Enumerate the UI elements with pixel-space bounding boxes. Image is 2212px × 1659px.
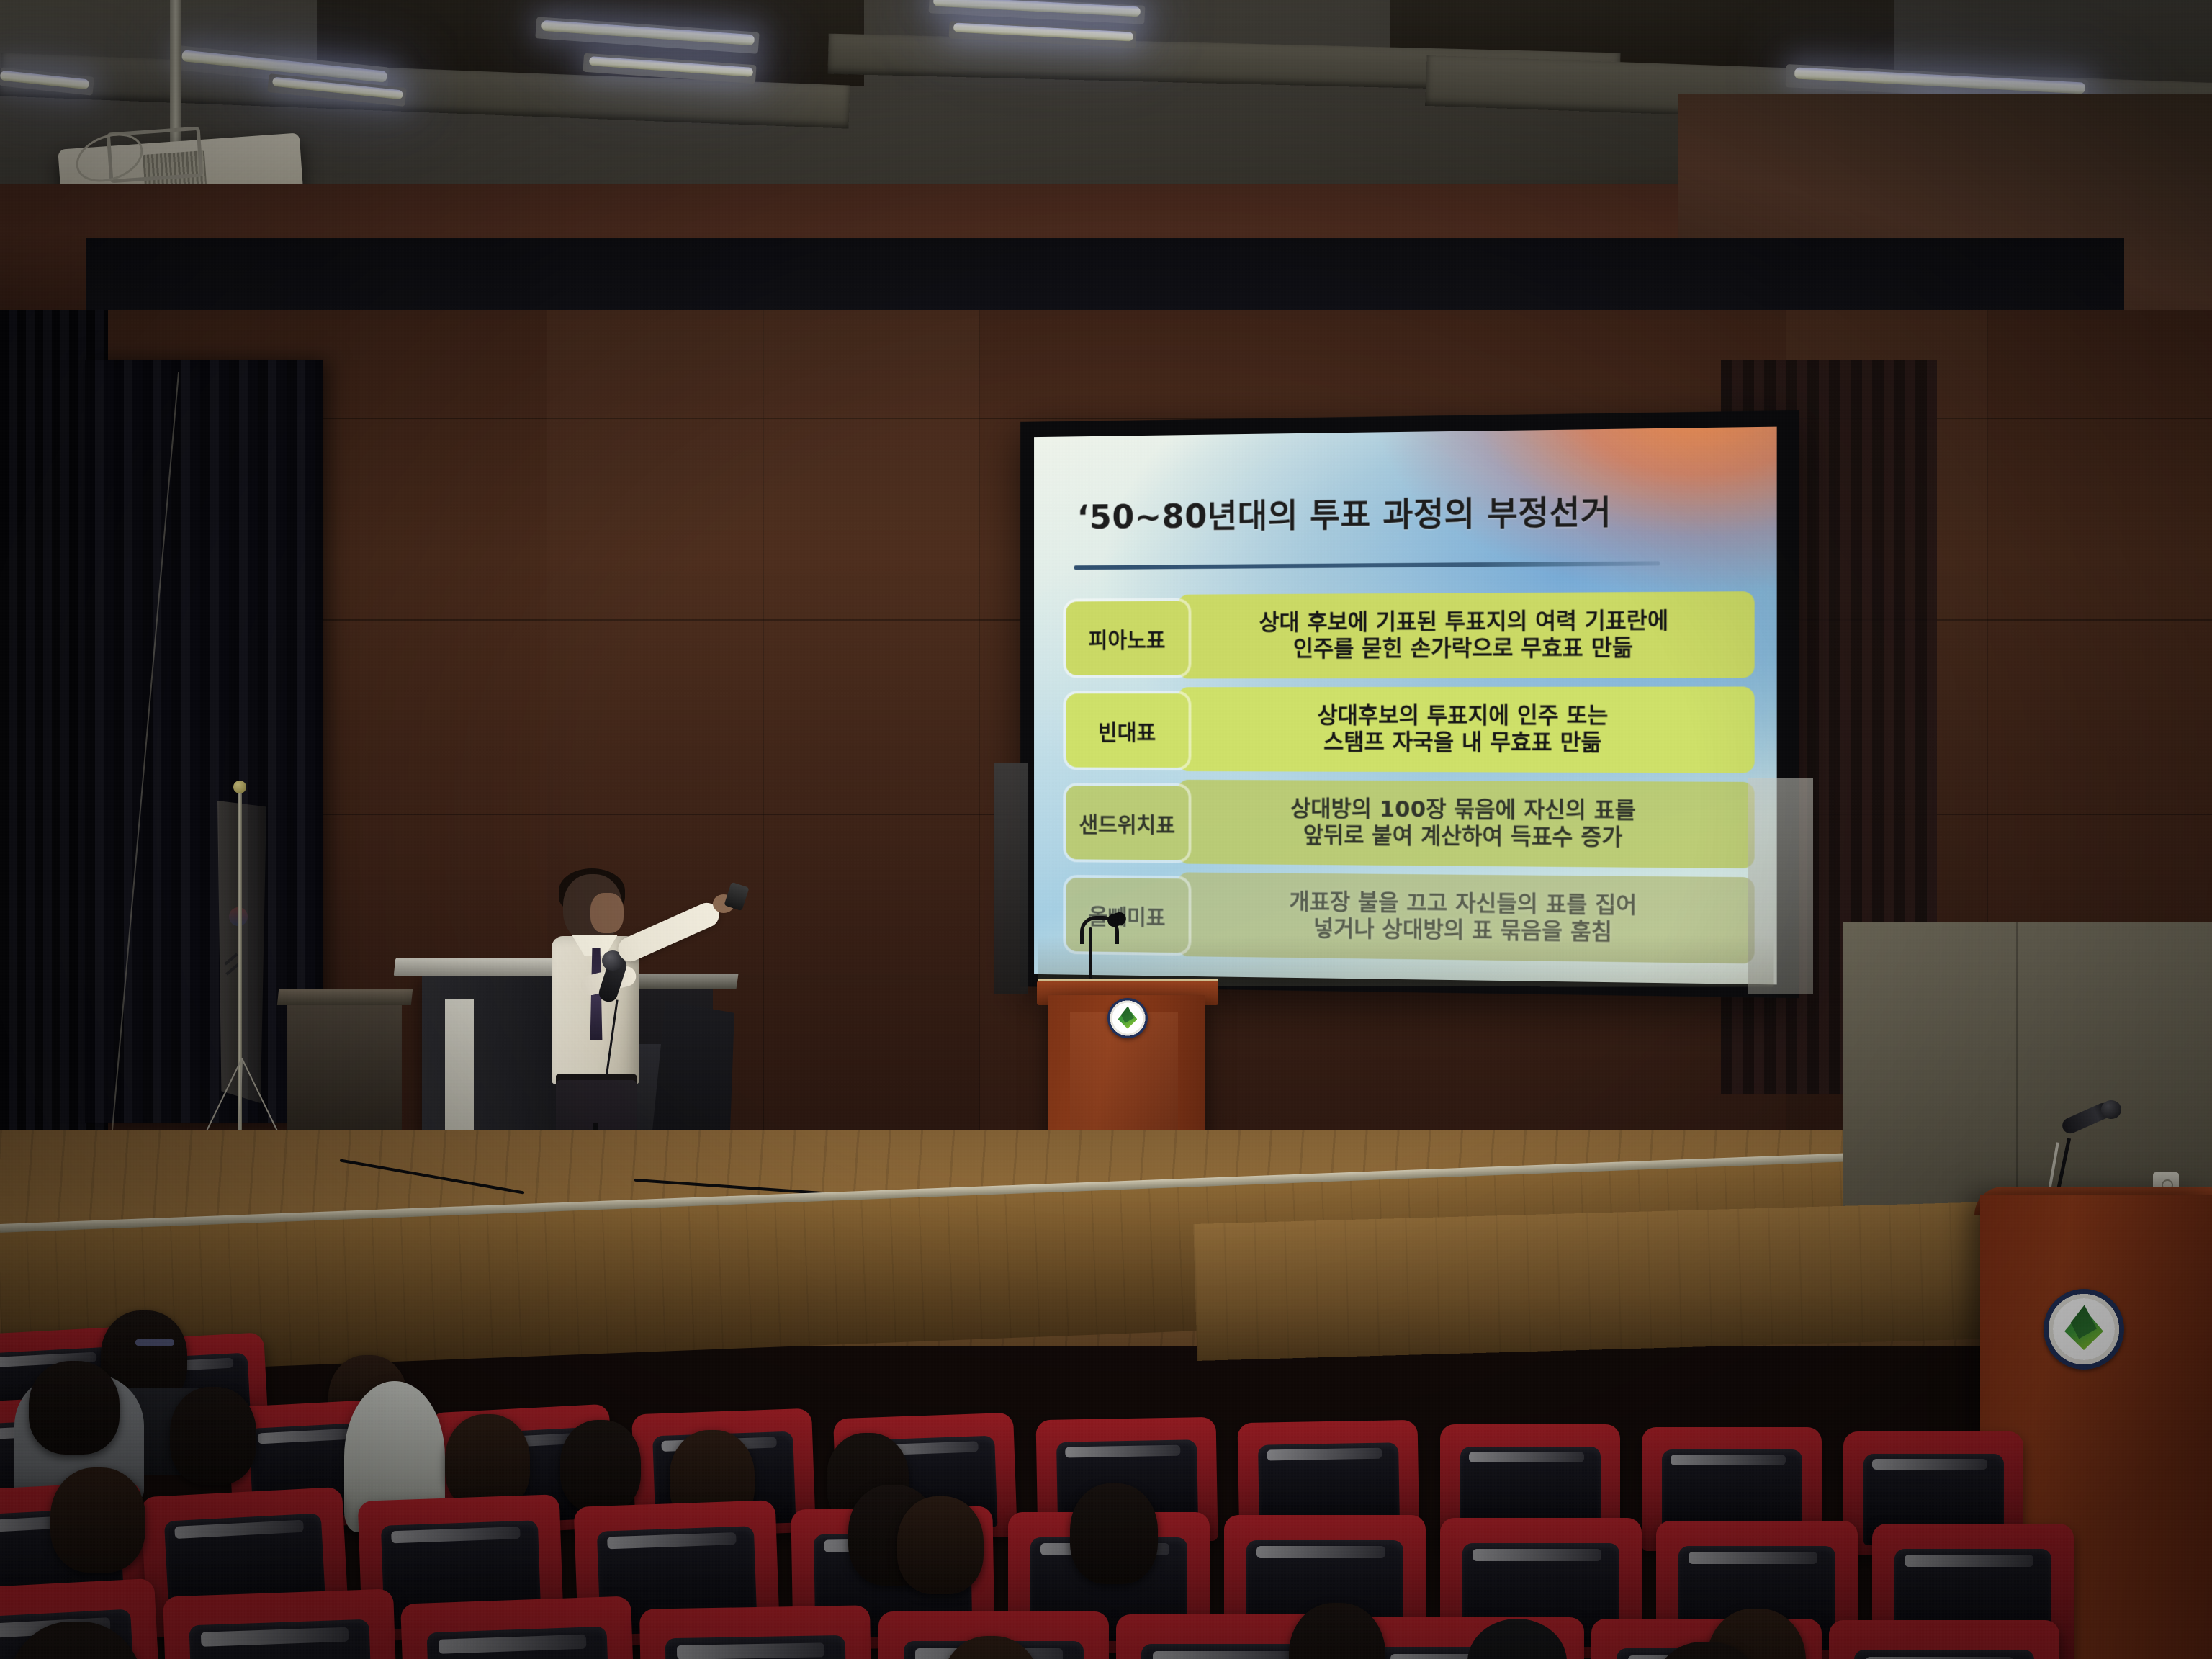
flag-finial: [233, 781, 246, 793]
presenter-right-arm: [614, 899, 723, 965]
seat: [639, 1605, 873, 1659]
slide-row-label: 빈대표: [1066, 693, 1188, 768]
audience-head: [170, 1387, 256, 1485]
auditorium-scene: ‘50~80년대의 투표 과정의 부정선거 상대 후보에 기표된 투표지의 여력…: [0, 0, 2212, 1659]
slide-title: ‘50~80년대의 투표 과정의 부정선거: [1077, 485, 1707, 539]
slide-row-label: 피아노표: [1066, 601, 1188, 675]
audience-seating: [0, 1195, 2212, 1659]
slide-row: 상대 후보에 기표된 투표지의 여력 기표란에 인주를 묻힌 손가락으로 무효표…: [1066, 591, 1747, 681]
presenter-face: [590, 893, 624, 933]
slide-row: 개표장 불을 끄고 자신들의 표를 집어 넣거나 상대방의 표 묶음을 훔침 올…: [1066, 871, 1747, 966]
slide-row-body: 상대후보의 투표지에 인주 또는 스탬프 자국을 내 무효표 만듦: [1177, 687, 1755, 773]
stage-side-table-top: [277, 989, 413, 1005]
seat: [400, 1596, 637, 1659]
slide-row-body: 개표장 불을 끄고 자신들의 표를 집어 넣거나 상대방의 표 묶음을 훔침: [1177, 872, 1755, 963]
projection-screen: ‘50~80년대의 투표 과정의 부정선거 상대 후보에 기표된 투표지의 여력…: [1034, 427, 1777, 985]
slide-rows: 상대 후보에 기표된 투표지의 여력 기표란에 인주를 묻힌 손가락으로 무효표…: [1066, 591, 1747, 972]
seat: [1829, 1620, 2059, 1659]
screen-left-panel: [994, 763, 1028, 994]
audience-head: [560, 1420, 641, 1512]
slide-row-text: 상대후보의 투표지에 인주 또는 스탬프 자국을 내 무효표 만듦: [1317, 703, 1608, 756]
slide-row-text: 개표장 불을 끄고 자신들의 표를 집어 넣거나 상대방의 표 묶음을 훔침: [1290, 889, 1637, 946]
slide-row-body: 상대 후보에 기표된 투표지의 여력 기표란에 인주를 묻힌 손가락으로 무효표…: [1177, 591, 1755, 678]
audience-head: [1070, 1483, 1158, 1584]
slide-row-label: 샌드위치표: [1066, 786, 1188, 860]
screen-right-panel: [1748, 778, 1813, 994]
audience-head: [897, 1496, 984, 1594]
slide-row-text: 상대방의 100장 묶음에 자신의 표를 앞뒤로 붙여 계산하여 득표수 증가: [1290, 796, 1636, 851]
school-crest-icon: [1107, 998, 1148, 1038]
seat: [163, 1588, 399, 1659]
slide-row-text: 상대 후보에 기표된 투표지의 여력 기표란에 인주를 묻힌 손가락으로 무효표…: [1259, 608, 1668, 662]
audience-head: [50, 1467, 145, 1573]
stage-side-table: [287, 1001, 402, 1130]
audience-head: [29, 1361, 120, 1455]
slide-title-divider: [1074, 561, 1660, 570]
slide-row: 상대방의 100장 묶음에 자신의 표를 앞뒤로 붙여 계산하여 득표수 증가 …: [1066, 779, 1747, 871]
microphone-head: [2101, 1100, 2121, 1119]
slide-row-body: 상대방의 100장 묶음에 자신의 표를 앞뒤로 붙여 계산하여 득표수 증가: [1177, 780, 1755, 868]
glasses-icon: [135, 1339, 174, 1346]
slide-row: 상대후보의 투표지에 인주 또는 스탬프 자국을 내 무효표 만듦 빈대표: [1066, 687, 1747, 776]
